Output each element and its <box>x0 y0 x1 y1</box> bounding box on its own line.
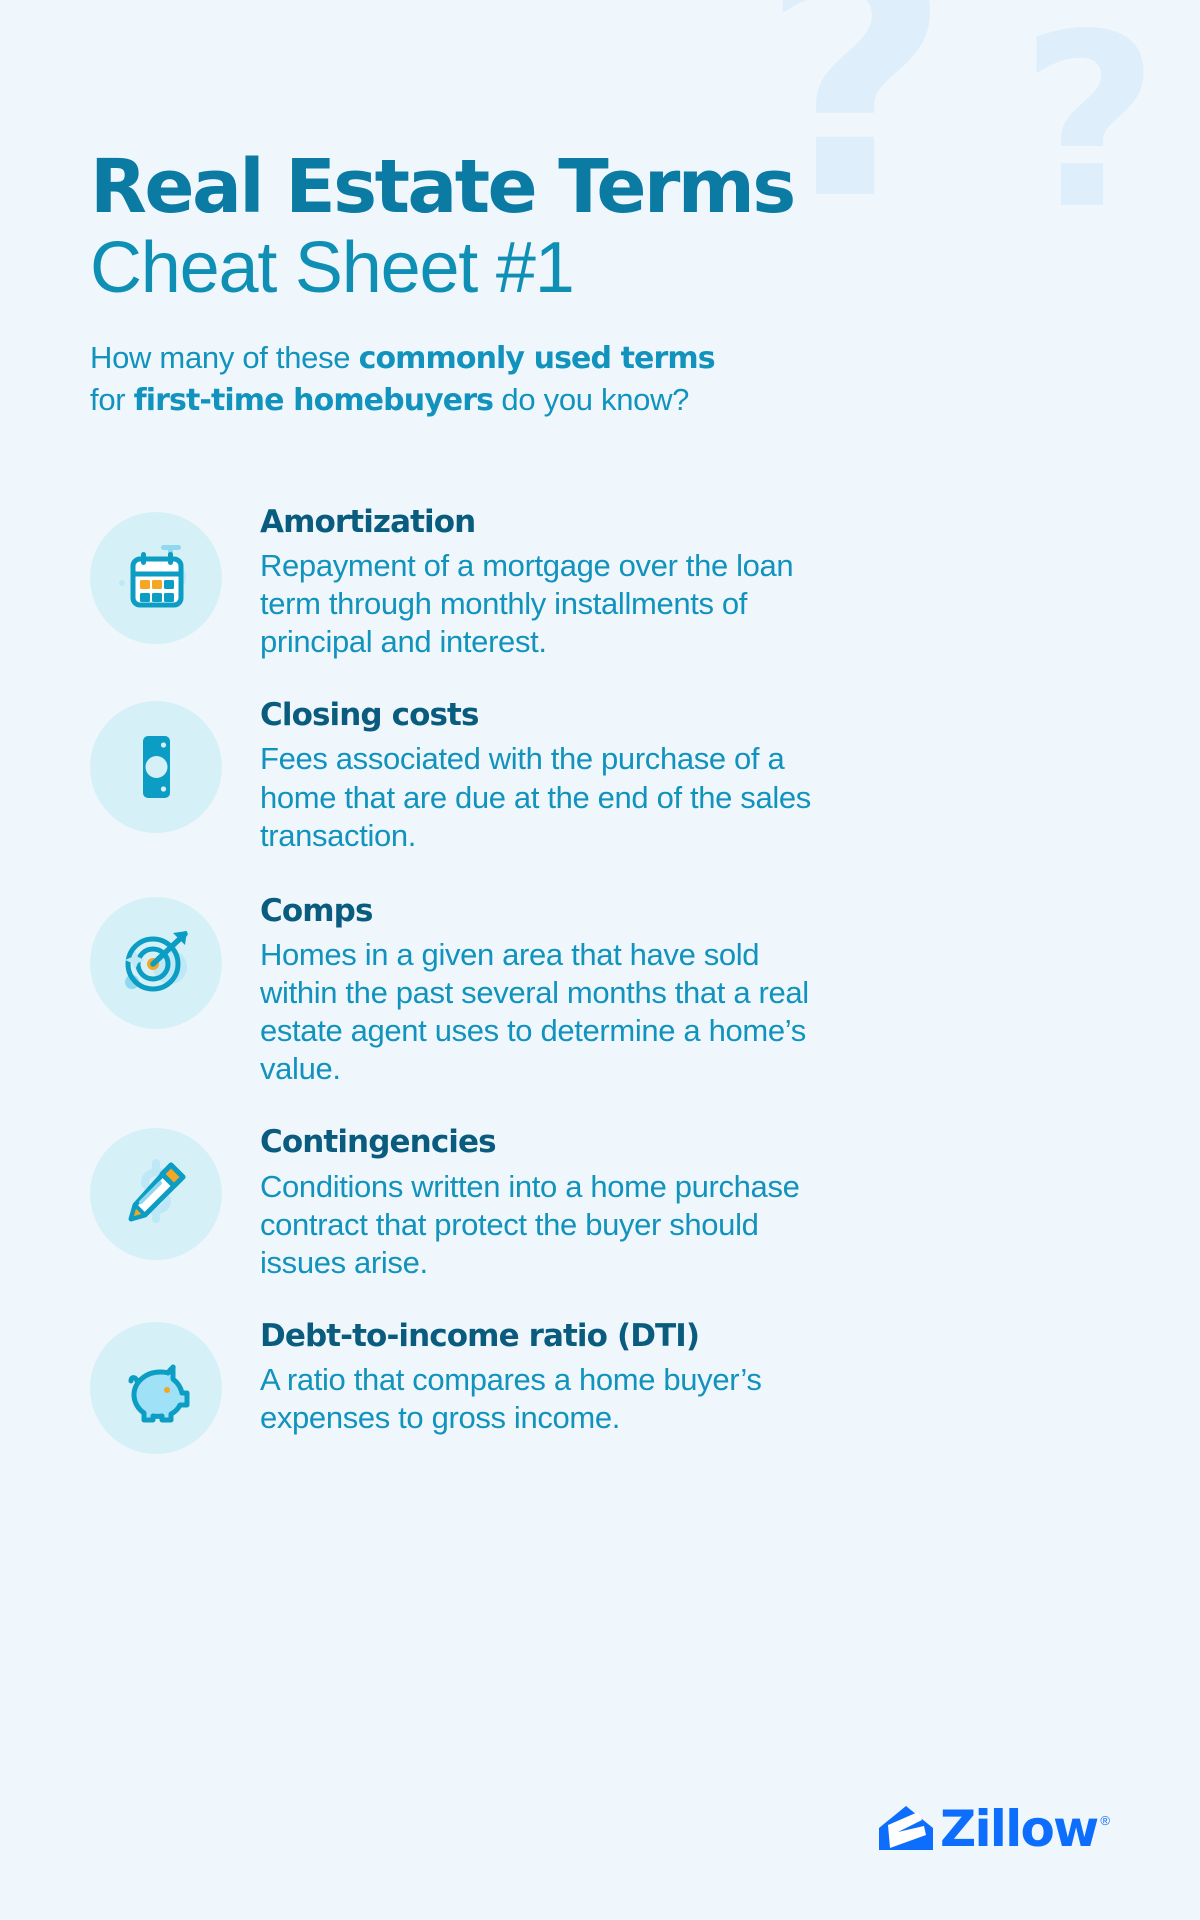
term-description: Repayment of a mortgage over the loan te… <box>260 547 840 661</box>
term-description: Fees associated with the purchase of a h… <box>260 740 840 854</box>
intro-text: How many of these commonly used terms fo… <box>90 337 1110 422</box>
term-content: Closing costs Fees associated with the p… <box>260 695 1110 855</box>
list-item: Debt-to-income ratio (DTI) A ratio that … <box>90 1316 1110 1454</box>
money-bill-icon <box>90 701 222 833</box>
zillow-house-icon <box>878 1804 934 1854</box>
footer: Zillow ® <box>878 1804 1110 1854</box>
page-title-line1: Real Estate Terms <box>90 150 1110 224</box>
term-title: Amortization <box>260 504 1110 541</box>
zillow-logo[interactable]: Zillow ® <box>878 1804 1110 1854</box>
registered-trademark: ® <box>1100 1813 1110 1828</box>
intro-line2-plain-a: for <box>90 382 134 417</box>
term-title: Contingencies <box>260 1124 1110 1161</box>
term-content: Contingencies Conditions written into a … <box>260 1122 1110 1282</box>
term-content: Amortization Repayment of a mortgage ove… <box>260 502 1110 662</box>
piggy-bank-icon <box>90 1322 222 1454</box>
pencil-dollar-icon <box>90 1128 222 1260</box>
term-title: Closing costs <box>260 697 1110 734</box>
target-arrow-icon <box>90 897 222 1029</box>
term-content: Debt-to-income ratio (DTI) A ratio that … <box>260 1316 1110 1437</box>
list-item: Contingencies Conditions written into a … <box>90 1122 1110 1282</box>
intro-line2-plain-b: do you know? <box>493 382 689 417</box>
terms-list: Amortization Repayment of a mortgage ove… <box>90 502 1110 1454</box>
intro-line2-bold: first-time homebuyers <box>134 383 494 418</box>
term-description: A ratio that compares a home buyer’s exp… <box>260 1361 840 1437</box>
term-description: Conditions written into a home purchase … <box>260 1168 840 1282</box>
list-item: Comps Homes in a given area that have so… <box>90 891 1110 1089</box>
list-item: Amortization Repayment of a mortgage ove… <box>90 502 1110 662</box>
intro-line1-bold: commonly used terms <box>359 341 715 376</box>
intro-line1-plain: How many of these <box>90 340 359 375</box>
term-title: Debt-to-income ratio (DTI) <box>260 1318 1110 1355</box>
calendar-icon <box>90 512 222 644</box>
term-description: Homes in a given area that have sold wit… <box>260 936 840 1089</box>
intro-line-2: for first-time homebuyers do you know? <box>90 379 1110 422</box>
page-title-line2: Cheat Sheet #1 <box>90 228 1110 309</box>
term-content: Comps Homes in a given area that have so… <box>260 891 1110 1089</box>
term-title: Comps <box>260 893 1110 930</box>
list-item: Closing costs Fees associated with the p… <box>90 695 1110 855</box>
intro-line-1: How many of these commonly used terms <box>90 337 1110 380</box>
zillow-wordmark: Zillow <box>940 1804 1097 1854</box>
header: Real Estate Terms Cheat Sheet #1 How man… <box>90 0 1110 422</box>
infographic-page: Real Estate Terms Cheat Sheet #1 How man… <box>0 0 1200 1920</box>
